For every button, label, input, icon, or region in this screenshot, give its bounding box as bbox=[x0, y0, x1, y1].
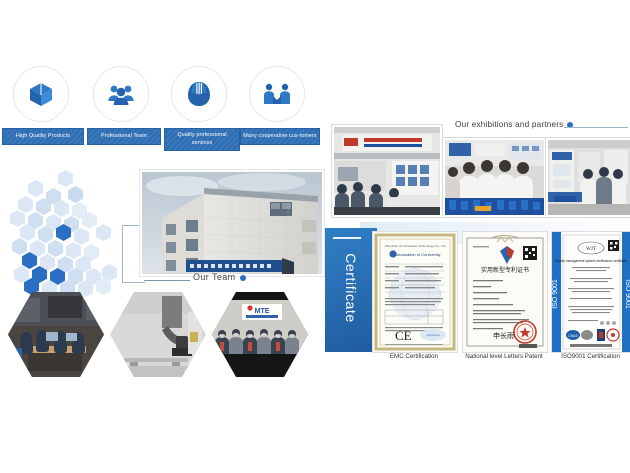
patent-heading: 实用新型专利证书 bbox=[481, 266, 529, 274]
svg-text:Approved: Approved bbox=[427, 333, 440, 337]
patent-certificate: 实用新型专利证书 申长雨 bbox=[462, 231, 548, 353]
hexagon-cell bbox=[68, 186, 83, 203]
emc-heading: Declaration of Conformity bbox=[395, 252, 440, 257]
feature-label: Quality professional services bbox=[164, 128, 240, 151]
staff-group-photo: MTE bbox=[212, 292, 308, 377]
feature-icon-wrap bbox=[171, 66, 227, 122]
exhibitions-title-text: Our exhibitions and partners bbox=[455, 120, 563, 129]
certificate-band-label: Certificate bbox=[343, 236, 359, 340]
exhibitions-title-rule bbox=[564, 127, 628, 128]
certificate-caption: ISO9001 Certification bbox=[551, 353, 630, 360]
svg-text:CNAS: CNAS bbox=[568, 334, 578, 338]
feature-icon-wrap bbox=[249, 66, 305, 122]
svg-text:Shenzhen XT Production Technol: Shenzhen XT Production Technology Co., L… bbox=[385, 244, 446, 248]
blue-dot-icon bbox=[240, 275, 246, 281]
certificate-caption: National level Letters Patent bbox=[457, 353, 551, 360]
iso-left-label: ISO 9001 bbox=[552, 279, 559, 309]
feature-icon-wrap bbox=[93, 66, 149, 122]
ce-mark: CE bbox=[395, 328, 412, 343]
hexagon-cell bbox=[10, 210, 25, 227]
our-team-text: Our Team bbox=[193, 272, 236, 282]
exhibition-visitors-photo bbox=[546, 138, 630, 217]
feature-item-cooperative-customers[interactable]: Many cooperative cus-tomers bbox=[246, 66, 308, 145]
feature-label: Many cooperative cus-tomers bbox=[240, 128, 320, 145]
people-group-icon bbox=[107, 82, 135, 106]
iso-heading: Quality management system certification … bbox=[555, 259, 627, 263]
svg-text:ISO 9001: ISO 9001 bbox=[624, 279, 630, 309]
hexagon-cell bbox=[74, 228, 89, 245]
hexagon-cell bbox=[96, 224, 111, 241]
our-team-line bbox=[144, 280, 190, 281]
our-team-label: Our Team bbox=[193, 272, 246, 282]
hexagon-cell bbox=[28, 180, 43, 197]
exhibitions-title: Our exhibitions and partners bbox=[455, 120, 573, 129]
company-building-photo bbox=[140, 170, 324, 276]
hexagon-pattern-decoration bbox=[6, 168, 124, 293]
hexagon-cell bbox=[18, 196, 33, 213]
feature-icon-wrap bbox=[13, 66, 69, 122]
shield-quality-icon bbox=[187, 81, 211, 107]
iso9001-certificate: ISO 9001 ISO 9001 WJT Quality management… bbox=[551, 231, 630, 353]
emc-certificate: Shenzhen XT Production Technology Co., L… bbox=[372, 231, 458, 353]
certificate-caption: EMC Certification bbox=[372, 353, 456, 360]
svg-text:MTE: MTE bbox=[255, 308, 270, 315]
feature-item-quality-services[interactable]: Quality professional services bbox=[168, 66, 230, 151]
company-profile-banner: High Quality Products Professional Team bbox=[0, 0, 630, 473]
hexagon-cell bbox=[48, 240, 63, 257]
office-meeting-photo bbox=[8, 292, 104, 377]
certificate-band: Certificate bbox=[325, 228, 377, 352]
svg-text:WJT: WJT bbox=[586, 247, 596, 252]
box-3d-icon bbox=[28, 81, 54, 107]
feature-item-professional-team[interactable]: Professional Team bbox=[90, 66, 152, 145]
hexagon-cell bbox=[66, 242, 81, 259]
machine-equipment-photo bbox=[110, 292, 206, 377]
hexagon-cell bbox=[58, 170, 73, 187]
exhibition-team-photo bbox=[443, 138, 546, 217]
svg-text:申长雨: 申长雨 bbox=[493, 331, 514, 340]
hexagon-cell bbox=[12, 238, 27, 255]
handshake-icon bbox=[263, 82, 291, 106]
exhibition-booth-photo bbox=[332, 125, 442, 217]
feature-label: High Quality Products bbox=[2, 128, 84, 145]
feature-row: High Quality Products Professional Team bbox=[10, 66, 310, 161]
hexagon-cell bbox=[14, 266, 29, 283]
feature-label: Professional Team bbox=[87, 128, 161, 145]
feature-item-high-quality-products[interactable]: High Quality Products bbox=[10, 66, 72, 145]
